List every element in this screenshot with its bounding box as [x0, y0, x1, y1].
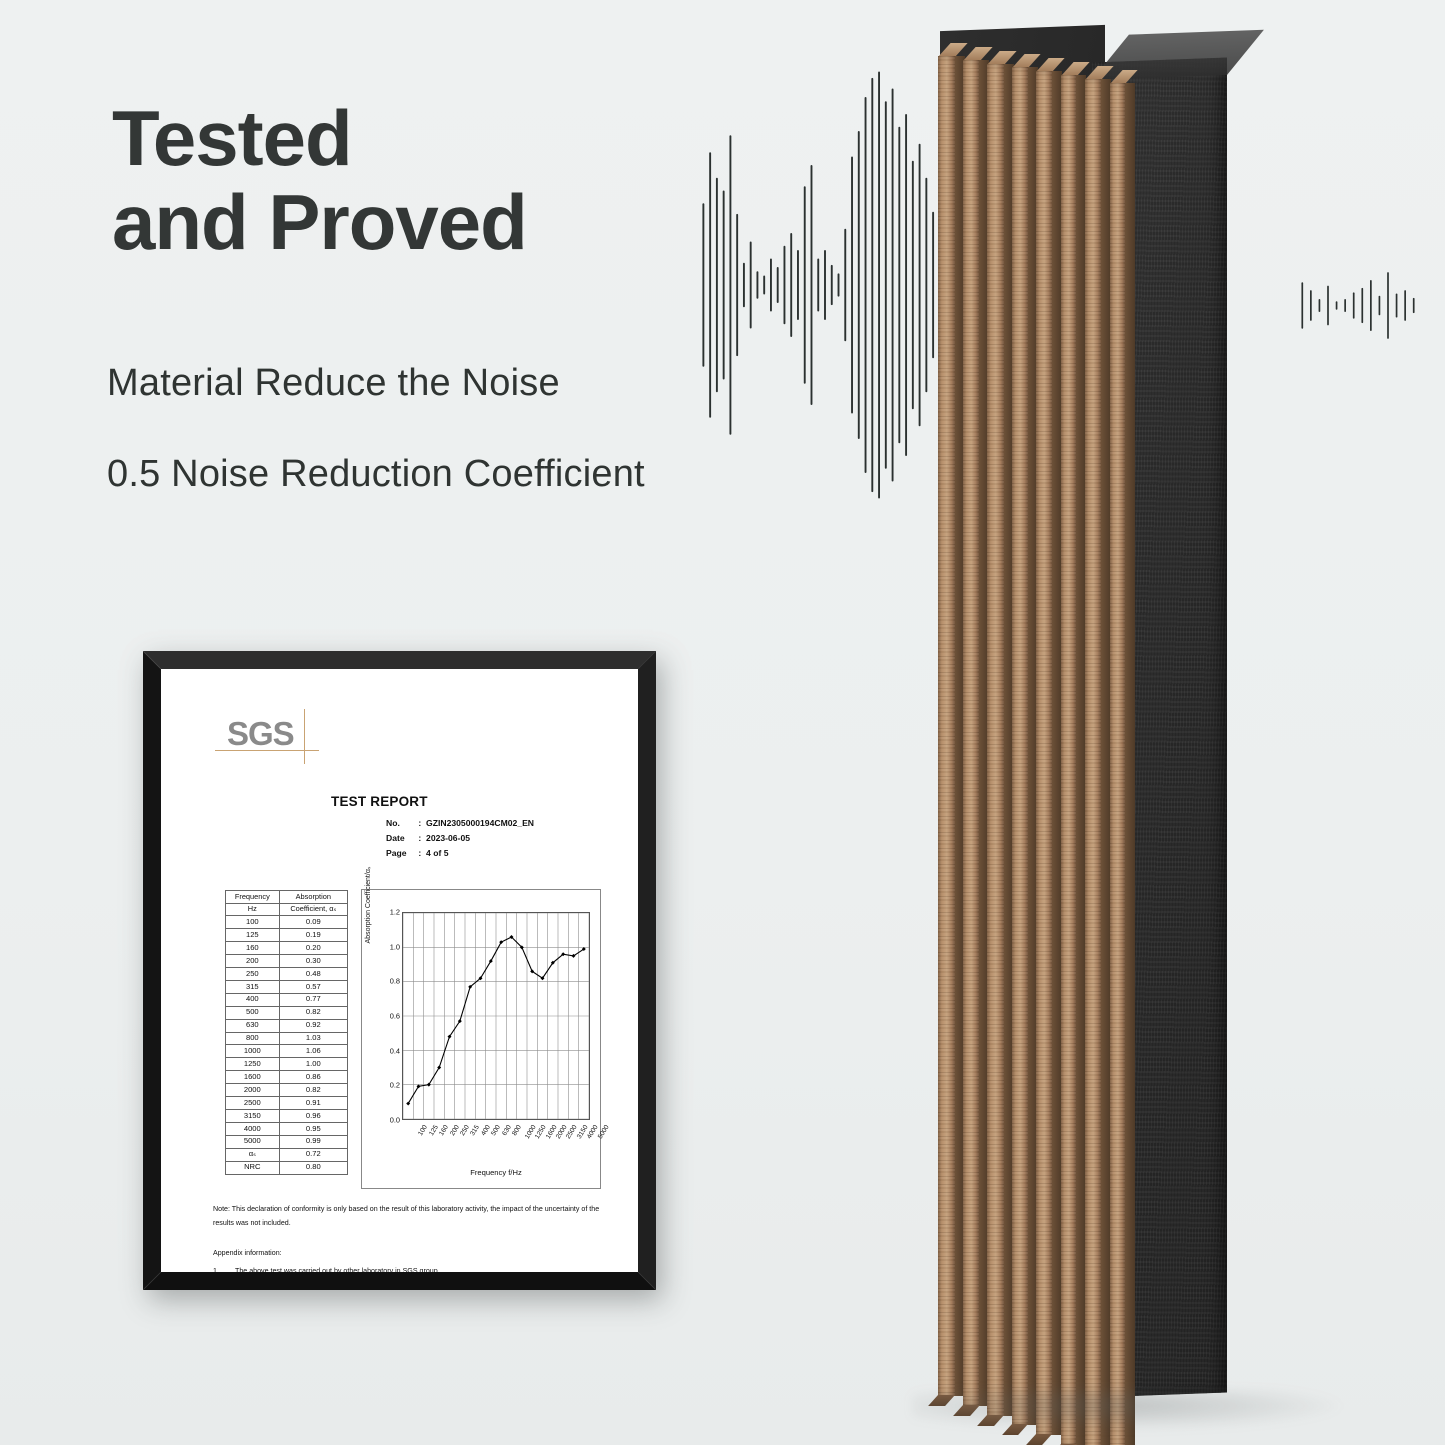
cell-absorption: 0.99 — [279, 1135, 347, 1148]
chart-plot-area — [402, 912, 590, 1120]
appendix-title: Appendix information: — [213, 1247, 603, 1260]
absorption-coefficient-chart: Absorption Coefficient/αₛ 0.00.20.40.60.… — [361, 889, 601, 1189]
header-frequency-unit: Hz — [226, 903, 280, 916]
header-absorption-symbol: Coefficient, αₛ — [279, 903, 347, 916]
wood-slat-face — [1110, 83, 1125, 1445]
cell-absorption: 1.00 — [279, 1058, 347, 1071]
report-meta-key: Page — [386, 846, 416, 861]
table-row: 315 0.57 — [226, 980, 348, 993]
cell-absorption: 0.95 — [279, 1122, 347, 1135]
cell-frequency: NRC — [226, 1161, 280, 1174]
wood-slat — [1110, 83, 1125, 1445]
cell-absorption: 0.48 — [279, 968, 347, 981]
cell-frequency: 2500 — [226, 1097, 280, 1110]
wood-slat-side-edge — [1125, 83, 1135, 1445]
incoming-sound-waveform-icon — [700, 70, 950, 500]
sgs-test-report-document: SGS TEST REPORT No. : GZIN2305000194CM02… — [161, 669, 638, 1272]
acoustic-slat-panel — [930, 18, 1330, 1430]
chart-y-axis-label: Absorption Coefficient/αₛ — [364, 830, 372, 980]
report-meta-value: GZIN2305000194CM02_EN — [424, 818, 534, 828]
appendix-item-number: 1. — [213, 1265, 235, 1272]
chart-y-tick: 1.0 — [390, 942, 400, 951]
report-meta-separator: : — [418, 818, 421, 828]
subheading-nrc: 0.5 Noise Reduction Coefficient — [107, 453, 645, 496]
panel-floor-shadow — [912, 1390, 1342, 1430]
wood-slat-face — [938, 56, 955, 1396]
table-row: NRC 0.80 — [226, 1161, 348, 1174]
sgs-logo: SGS — [227, 717, 294, 750]
table-row: 3150 0.96 — [226, 1110, 348, 1123]
chart-y-tick: 1.2 — [390, 908, 400, 917]
wood-slat — [938, 56, 955, 1396]
wood-slat — [987, 64, 1004, 1416]
header-absorption: Absorption — [279, 891, 347, 904]
cell-frequency: 4000 — [226, 1122, 280, 1135]
cell-absorption: 1.06 — [279, 1045, 347, 1058]
cell-absorption: 1.03 — [279, 1032, 347, 1045]
subheading-material: Material Reduce the Noise — [107, 362, 560, 405]
cell-frequency: 1600 — [226, 1071, 280, 1084]
cell-absorption: 0.96 — [279, 1110, 347, 1123]
cell-absorption: 0.20 — [279, 942, 347, 955]
wood-slat-face — [1085, 79, 1101, 1445]
chart-x-tick: 250 — [459, 1124, 471, 1137]
cell-frequency: 3150 — [226, 1110, 280, 1123]
report-meta-value: 4 of 5 — [424, 848, 449, 858]
table-row: 630 0.92 — [226, 1019, 348, 1032]
cell-frequency: 630 — [226, 1019, 280, 1032]
table-head: Frequency Absorption Hz Coefficient, αₛ — [226, 891, 348, 916]
table-row: 125 0.19 — [226, 929, 348, 942]
cell-frequency: 400 — [226, 993, 280, 1006]
chart-y-tick: 0.2 — [390, 1081, 400, 1090]
report-meta-row: Date : 2023-06-05 — [386, 831, 534, 846]
table-row: 400 0.77 — [226, 993, 348, 1006]
table-header-row-2: Hz Coefficient, αₛ — [226, 903, 348, 916]
table-row: 1250 1.00 — [226, 1058, 348, 1071]
wood-slat-face — [1061, 75, 1077, 1445]
table-row: 2000 0.82 — [226, 1084, 348, 1097]
chart-x-tick: 630 — [501, 1124, 513, 1137]
cell-absorption: 0.80 — [279, 1161, 347, 1174]
table-row: 500 0.82 — [226, 1006, 348, 1019]
sgs-logo-text: SGS — [227, 717, 294, 750]
cell-frequency: 5000 — [226, 1135, 280, 1148]
cell-absorption: 0.72 — [279, 1148, 347, 1161]
table-body: 100 0.09 125 0.19 160 0.20 200 0.30 250 … — [226, 916, 348, 1174]
chart-x-tick: 200 — [449, 1124, 461, 1137]
cell-absorption: 0.77 — [279, 993, 347, 1006]
cell-frequency: 500 — [226, 1006, 280, 1019]
chart-y-tick: 0.6 — [390, 1012, 400, 1021]
wood-slat — [1061, 75, 1077, 1445]
chart-x-tick: 800 — [511, 1124, 523, 1137]
chart-x-tick: 160 — [438, 1124, 450, 1137]
table-row: 160 0.20 — [226, 942, 348, 955]
cell-absorption: 0.19 — [279, 929, 347, 942]
report-meta-value: 2023-06-05 — [424, 833, 470, 843]
wood-slat — [1012, 67, 1028, 1425]
cell-frequency: 200 — [226, 955, 280, 968]
chart-x-tick: 315 — [470, 1124, 482, 1137]
cell-frequency: 160 — [226, 942, 280, 955]
wood-slat-face — [963, 60, 980, 1406]
table-row: 250 0.48 — [226, 968, 348, 981]
chart-y-axis-ticks: 0.00.20.40.60.81.01.2 — [376, 912, 400, 1120]
page-title: Tested and Proved — [112, 96, 527, 264]
table-row: 1600 0.86 — [226, 1071, 348, 1084]
cell-absorption: 0.57 — [279, 980, 347, 993]
cell-absorption: 0.92 — [279, 1019, 347, 1032]
cell-absorption: 0.91 — [279, 1097, 347, 1110]
cell-absorption: 0.30 — [279, 955, 347, 968]
certificate-picture-frame: SGS TEST REPORT No. : GZIN2305000194CM02… — [143, 651, 656, 1290]
report-meta-list: No. : GZIN2305000194CM02_EN Date : 2023-… — [386, 816, 534, 861]
table-row: 2500 0.91 — [226, 1097, 348, 1110]
table-row: 100 0.09 — [226, 916, 348, 929]
appendix-item-list: 1.The above test was carried out by othe… — [213, 1265, 603, 1272]
cell-absorption: 0.09 — [279, 916, 347, 929]
chart-x-tick: 500 — [491, 1124, 503, 1137]
report-meta-separator: : — [418, 848, 421, 858]
table-row: 1000 1.06 — [226, 1045, 348, 1058]
wood-slat — [963, 60, 980, 1406]
report-title: TEST REPORT — [331, 794, 428, 809]
header-frequency: Frequency — [226, 891, 280, 904]
felt-backing-top-edge — [1092, 30, 1264, 80]
report-meta-row: No. : GZIN2305000194CM02_EN — [386, 816, 534, 831]
chart-series-line — [403, 913, 589, 1119]
cell-frequency: 800 — [226, 1032, 280, 1045]
chart-y-tick: 0.8 — [390, 977, 400, 986]
report-meta-key: No. — [386, 816, 416, 831]
report-note: Note: This declaration of conformity is … — [213, 1203, 603, 1231]
chart-x-tick: 125 — [428, 1124, 440, 1137]
wood-slat — [1085, 79, 1101, 1445]
report-meta-separator: : — [418, 833, 421, 843]
cell-absorption: 0.86 — [279, 1071, 347, 1084]
appendix-item-text: The above test was carried out by other … — [235, 1267, 440, 1272]
chart-x-tick: 100 — [417, 1124, 429, 1137]
cell-frequency: 315 — [226, 980, 280, 993]
report-meta-key: Date — [386, 831, 416, 846]
sgs-logo-vertical-rule — [304, 709, 305, 764]
table-row: 5000 0.99 — [226, 1135, 348, 1148]
cell-frequency: 2000 — [226, 1084, 280, 1097]
table-row: 4000 0.95 — [226, 1122, 348, 1135]
wood-slat-bottom-edge — [1026, 1434, 1052, 1445]
table-row: αₛ 0.72 — [226, 1148, 348, 1161]
report-appendix: Appendix information: 1.The above test w… — [213, 1247, 603, 1272]
chart-x-tick: 400 — [480, 1124, 492, 1137]
absorption-coefficient-table: Frequency Absorption Hz Coefficient, αₛ … — [225, 890, 348, 1175]
cell-frequency: 1000 — [226, 1045, 280, 1058]
chart-x-axis-ticks: 1001251602002503154005006308001000125016… — [402, 1122, 590, 1164]
wood-slat-face — [1012, 67, 1028, 1425]
cell-absorption: 0.82 — [279, 1084, 347, 1097]
cell-frequency: 250 — [226, 968, 280, 981]
wood-slat-face — [987, 64, 1004, 1416]
chart-x-axis-label: Frequency f/Hz — [402, 1168, 590, 1177]
appendix-item: 1.The above test was carried out by othe… — [213, 1265, 603, 1272]
cell-absorption: 0.82 — [279, 1006, 347, 1019]
chart-y-tick: 0.4 — [390, 1046, 400, 1055]
wood-slat-face — [1036, 71, 1052, 1435]
cell-frequency: 1250 — [226, 1058, 280, 1071]
wood-slat — [1036, 71, 1052, 1435]
cell-frequency: 100 — [226, 916, 280, 929]
table-row: 800 1.03 — [226, 1032, 348, 1045]
report-meta-row: Page : 4 of 5 — [386, 846, 534, 861]
cell-frequency: αₛ — [226, 1148, 280, 1161]
table-row: 200 0.30 — [226, 955, 348, 968]
table-header-row-1: Frequency Absorption — [226, 891, 348, 904]
poster-canvas: Tested and Proved Material Reduce the No… — [0, 0, 1445, 1445]
cell-frequency: 125 — [226, 929, 280, 942]
chart-y-tick: 0.0 — [390, 1116, 400, 1125]
